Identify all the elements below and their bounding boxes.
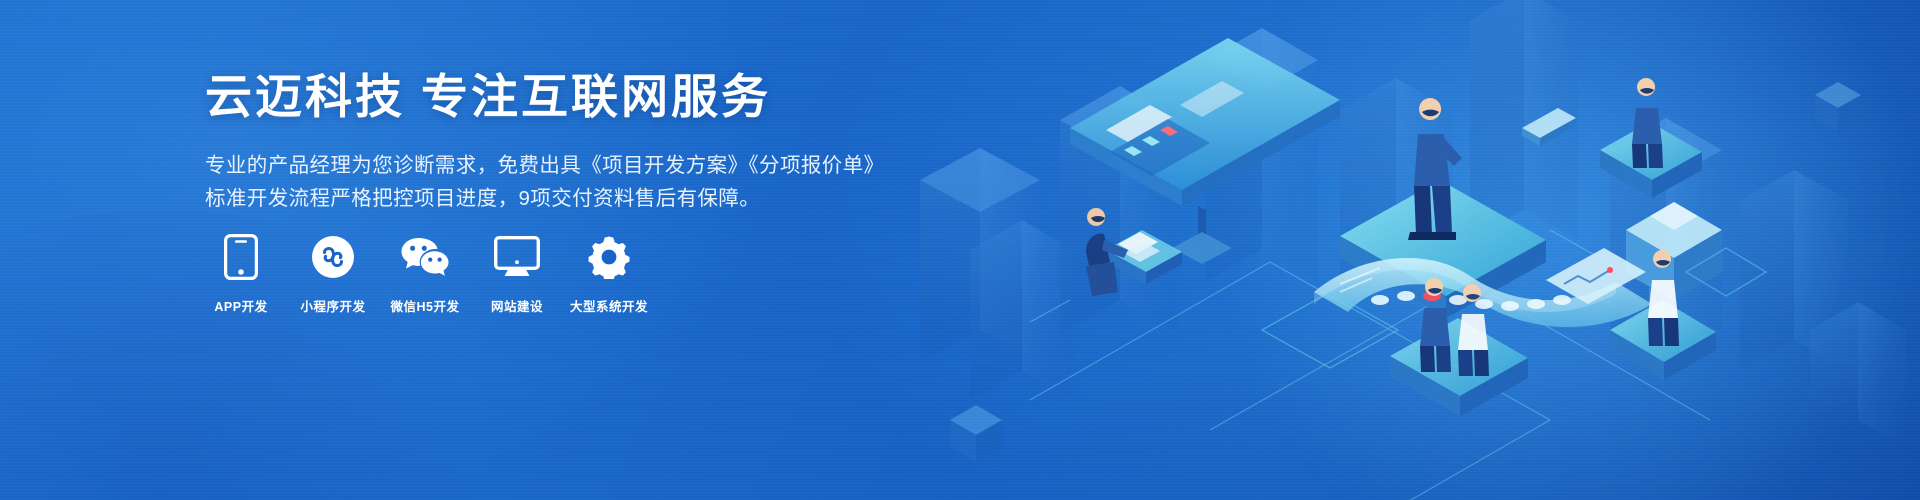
mobile-phone-icon xyxy=(216,232,266,282)
wechat-icon xyxy=(400,232,450,282)
service-label: 微信H5开发 xyxy=(391,296,460,315)
service-item-mini-program[interactable]: 小程序开发 xyxy=(297,232,369,315)
isometric-illustration xyxy=(910,0,1920,500)
subtitle-line-2: 标准开发流程严格把控项目进度，9项交付资料售后有保障。 xyxy=(205,182,925,215)
service-item-app[interactable]: APP开发 xyxy=(205,232,277,315)
page-title: 云迈科技 专注互联网服务 xyxy=(205,68,925,127)
monitor-icon xyxy=(492,232,542,282)
subtitle-line-1: 专业的产品经理为您诊断需求，免费出具《项目开发方案》《分项报价单》 xyxy=(205,149,925,182)
service-label: 小程序开发 xyxy=(300,296,365,315)
service-item-website[interactable]: 网站建设 xyxy=(481,232,553,315)
service-label: 网站建设 xyxy=(491,296,543,315)
banner-subtitle: 专业的产品经理为您诊断需求，免费出具《项目开发方案》《分项报价单》 标准开发流程… xyxy=(205,149,925,215)
banner-copy: 云迈科技 专注互联网服务 专业的产品经理为您诊断需求，免费出具《项目开发方案》《… xyxy=(205,68,925,215)
mini-program-icon xyxy=(308,232,358,282)
service-list: APP开发 小程序开发 xyxy=(205,232,645,315)
hero-banner: 云迈科技 专注互联网服务 专业的产品经理为您诊断需求，免费出具《项目开发方案》《… xyxy=(0,0,1920,500)
service-label: 大型系统开发 xyxy=(570,296,648,315)
service-item-wechat-h5[interactable]: 微信H5开发 xyxy=(389,232,461,315)
gear-icon xyxy=(584,232,634,282)
service-label: APP开发 xyxy=(214,296,267,315)
service-item-large-system[interactable]: 大型系统开发 xyxy=(573,232,645,315)
